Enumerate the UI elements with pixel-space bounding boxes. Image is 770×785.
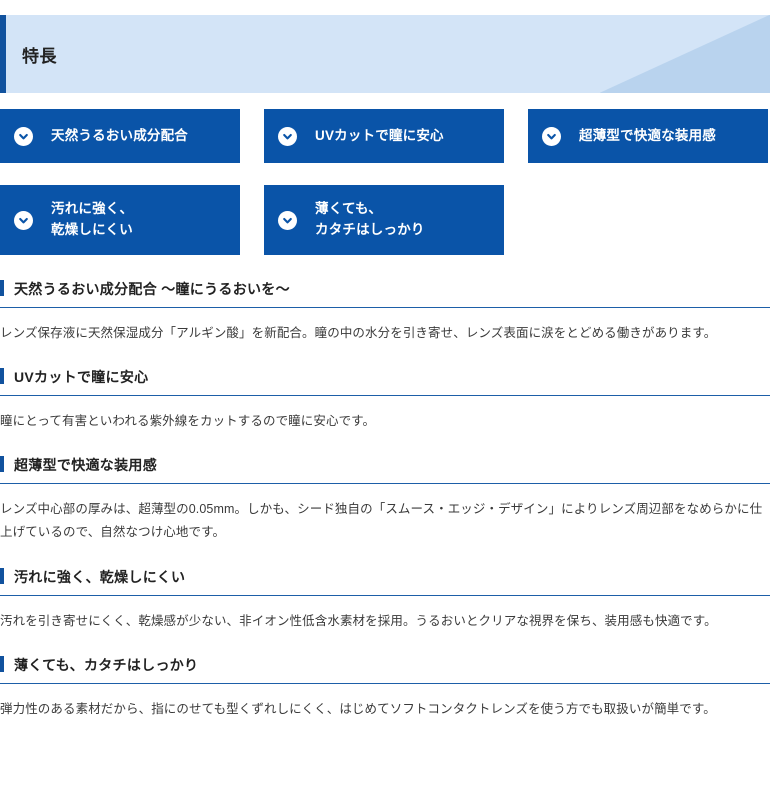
feature-button-stain-resistant[interactable]: 汚れに強く、 乾燥しにくい: [0, 185, 240, 255]
section-heading-accent-bar: [0, 456, 4, 472]
section-heading-text: 超薄型で快適な装用感: [14, 457, 157, 473]
header-accent-bar: [0, 15, 6, 93]
feature-button-grid: 天然うるおい成分配合 UVカットで瞳に安心 超薄型で快適な装用感: [0, 109, 770, 255]
chevron-down-icon: [14, 127, 33, 146]
feature-button-label: UVカットで瞳に安心: [315, 126, 444, 147]
feature-button-shape-retention[interactable]: 薄くても、 カタチはしっかり: [264, 185, 504, 255]
feature-detail-sections: 天然うるおい成分配合 〜瞳にうるおいを〜 レンズ保存液に天然保湿成分「アルギン酸…: [0, 273, 770, 737]
section-body-text: レンズ中心部の厚みは、超薄型の0.05mm。しかも、シード独自の「スムース・エッ…: [0, 484, 770, 560]
section-heading-text: UVカットで瞳に安心: [14, 369, 148, 385]
section-heading-text: 天然うるおい成分配合 〜瞳にうるおいを〜: [14, 281, 290, 297]
section-heading: 汚れに強く、乾燥しにくい: [0, 561, 770, 596]
feature-page: 特長 天然うるおい成分配合 UVカットで瞳に安心: [0, 15, 770, 785]
chevron-down-icon: [278, 211, 297, 230]
header-corner-wedge: [600, 15, 770, 93]
section-heading-text: 薄くても、カタチはしっかり: [14, 657, 198, 673]
section-body-text: レンズ保存液に天然保湿成分「アルギン酸」を新配合。瞳の中の水分を引き寄せ、レンズ…: [0, 308, 770, 361]
chevron-down-icon: [14, 211, 33, 230]
section-stain-resistant: 汚れに強く、乾燥しにくい 汚れを引き寄せにくく、乾燥感が少ない、非イオン性低含水…: [0, 561, 770, 649]
chevron-down-icon: [278, 127, 297, 146]
chevron-down-icon: [542, 127, 561, 146]
section-uv-cut: UVカットで瞳に安心 瞳にとって有害といわれる紫外線をカットするので瞳に安心です…: [0, 361, 770, 449]
feature-button-label: 天然うるおい成分配合: [51, 126, 188, 147]
page-header-banner: 特長: [0, 15, 770, 93]
section-heading: 超薄型で快適な装用感: [0, 449, 770, 484]
section-heading: 天然うるおい成分配合 〜瞳にうるおいを〜: [0, 273, 770, 308]
feature-button-label: 超薄型で快適な装用感: [579, 126, 716, 147]
section-natural-moisture: 天然うるおい成分配合 〜瞳にうるおいを〜 レンズ保存液に天然保湿成分「アルギン酸…: [0, 273, 770, 361]
section-heading-text: 汚れに強く、乾燥しにくい: [14, 569, 185, 585]
feature-button-natural-moisture[interactable]: 天然うるおい成分配合: [0, 109, 240, 163]
section-body-text: 弾力性のある素材だから、指にのせても型くずれしにくく、はじめてソフトコンタクトレ…: [0, 684, 770, 737]
section-heading-accent-bar: [0, 656, 4, 672]
section-heading-accent-bar: [0, 280, 4, 296]
section-shape-retention: 薄くても、カタチはしっかり 弾力性のある素材だから、指にのせても型くずれしにくく…: [0, 649, 770, 737]
section-body-text: 汚れを引き寄せにくく、乾燥感が少ない、非イオン性低含水素材を採用。うるおいとクリ…: [0, 596, 770, 649]
section-body-text: 瞳にとって有害といわれる紫外線をカットするので瞳に安心です。: [0, 396, 770, 449]
feature-button-ultra-thin[interactable]: 超薄型で快適な装用感: [528, 109, 768, 163]
feature-button-label: 汚れに強く、 乾燥しにくい: [51, 199, 133, 241]
section-heading-accent-bar: [0, 568, 4, 584]
section-heading: 薄くても、カタチはしっかり: [0, 649, 770, 684]
feature-button-uv-cut[interactable]: UVカットで瞳に安心: [264, 109, 504, 163]
section-heading: UVカットで瞳に安心: [0, 361, 770, 396]
section-ultra-thin: 超薄型で快適な装用感 レンズ中心部の厚みは、超薄型の0.05mm。しかも、シード…: [0, 449, 770, 560]
section-heading-accent-bar: [0, 368, 4, 384]
feature-button-label: 薄くても、 カタチはしっかり: [315, 199, 425, 241]
page-title: 特長: [22, 15, 57, 93]
